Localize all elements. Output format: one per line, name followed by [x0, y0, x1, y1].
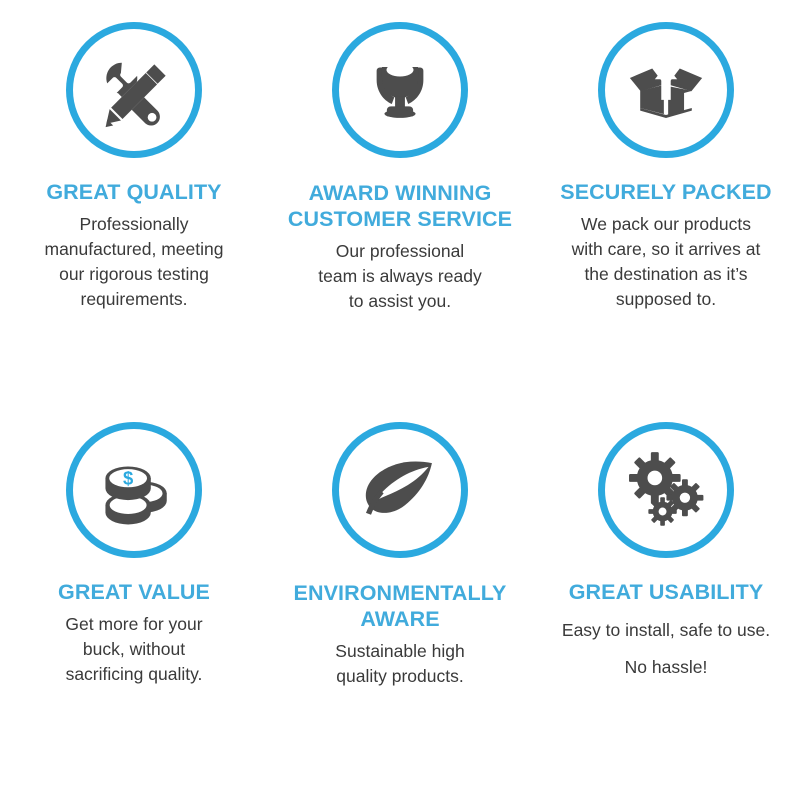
feature-description: Sustainable high quality products.: [303, 639, 498, 689]
icon-circle-securely-packed: [598, 22, 734, 158]
feature-heading: SECURELY PACKED: [541, 180, 791, 205]
gears-icon: [623, 447, 709, 533]
feature-description: Our professional team is always ready to…: [298, 239, 503, 314]
icon-circle-environmentally-aware: [332, 422, 468, 558]
feature-card-great-usability: GREAT USABILITY Easy to install, safe to…: [532, 400, 800, 800]
feature-card-great-value: $ GREAT VALUE Get more for your buck, wi…: [0, 400, 268, 800]
svg-text:$: $: [123, 468, 134, 489]
feature-card-securely-packed: SECURELY PACKED We pack our products wit…: [532, 0, 800, 400]
feature-heading: GREAT USABILITY: [541, 580, 791, 605]
feature-heading: GREAT VALUE: [9, 580, 259, 605]
feature-card-great-quality: GREAT QUALITY Professionally manufacture…: [0, 0, 268, 400]
leaf-icon: [358, 448, 442, 532]
wrench-and-pencil-icon: [92, 48, 176, 132]
icon-circle-great-usability: [598, 422, 734, 558]
feature-heading: ENVIRONMENTALLY AWARE: [275, 580, 525, 632]
icon-circle-great-value: $: [66, 422, 202, 558]
icon-circle-award-winning-customer-service: [332, 22, 468, 158]
feature-grid-page: GREAT QUALITY Professionally manufacture…: [0, 0, 800, 800]
feature-description: We pack our products with care, so it ar…: [559, 212, 774, 312]
icon-circle-great-quality: [66, 22, 202, 158]
feature-heading: AWARD WINNING CUSTOMER SERVICE: [275, 180, 525, 232]
trophy-icon: [359, 49, 441, 131]
feature-description: Get more for your buck, without sacrific…: [34, 612, 234, 687]
feature-description: Professionally manufactured, meeting our…: [27, 212, 242, 312]
open-box-icon: [623, 47, 709, 133]
feature-description: Easy to install, safe to use. No hassle!: [546, 612, 786, 686]
feature-grid: GREAT QUALITY Professionally manufacture…: [0, 0, 800, 800]
coins-dollar-icon: $: [92, 448, 176, 532]
feature-heading: GREAT QUALITY: [9, 180, 259, 205]
feature-card-award-winning-customer-service: AWARD WINNING CUSTOMER SERVICE Our profe…: [268, 0, 532, 400]
feature-card-environmentally-aware: ENVIRONMENTALLY AWARE Sustainable high q…: [268, 400, 532, 800]
